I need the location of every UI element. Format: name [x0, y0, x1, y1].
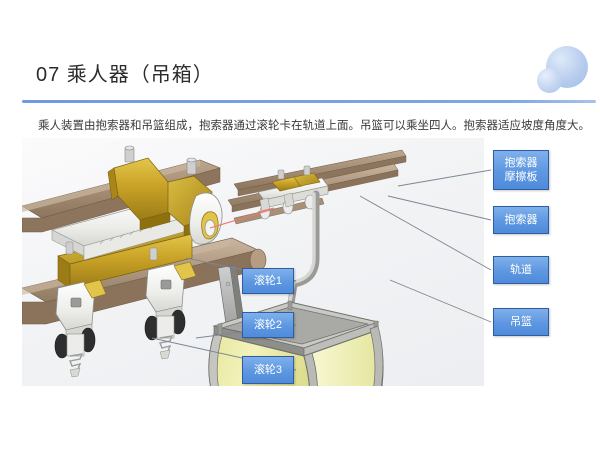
label-cabin-text: 吊篮 — [510, 316, 532, 329]
label-roller-3-text: 滚轮3 — [254, 364, 282, 377]
circle-large-icon — [546, 46, 588, 88]
label-roller-3[interactable]: 滚轮3 — [242, 356, 294, 384]
label-track[interactable]: 轨道 — [493, 256, 549, 284]
label-roller-2-text: 滚轮2 — [254, 319, 282, 332]
decoration-group — [530, 38, 600, 104]
label-grip[interactable]: 抱索器 — [493, 206, 549, 234]
label-grip-text: 抱索器 — [505, 214, 538, 227]
slide-canvas: 07 乘人器（吊箱） 乘人装置由抱索器和吊篮组成，抱索器通过滚轮卡在轨道上面。吊… — [0, 0, 600, 450]
cad-illustration — [22, 138, 484, 386]
plate-bolt-right — [150, 248, 157, 260]
grip-bolt-right — [187, 158, 196, 174]
label-roller-2[interactable]: 滚轮2 — [242, 312, 294, 338]
label-cabin[interactable]: 吊篮 — [493, 308, 549, 336]
label-grip-friction-plate-line2: 摩擦板 — [505, 170, 538, 184]
cableway-gondola-cad-diagram — [22, 138, 484, 386]
label-track-text: 轨道 — [510, 264, 532, 277]
circle-small-icon — [537, 68, 562, 93]
title-divider — [22, 100, 596, 103]
label-grip-friction-plate-line1: 抱索器 — [505, 156, 538, 170]
label-grip-friction-plate[interactable]: 抱索器 摩擦板 — [493, 150, 549, 190]
roller-carriage-2 — [145, 262, 196, 359]
plate-bolt-left — [66, 242, 73, 254]
slide-description: 乘人装置由抱索器和吊篮组成，抱索器通过滚轮卡在轨道上面。吊篮可以乘坐四人。抱索器… — [38, 118, 578, 134]
label-roller-1-text: 滚轮1 — [254, 275, 282, 288]
grip-bolt-left — [125, 146, 134, 162]
page-title: 07 乘人器（吊箱） — [36, 58, 214, 87]
label-roller-1[interactable]: 滚轮1 — [242, 268, 294, 294]
friction-shoe — [190, 193, 222, 244]
roller-carriage-1 — [55, 280, 106, 377]
